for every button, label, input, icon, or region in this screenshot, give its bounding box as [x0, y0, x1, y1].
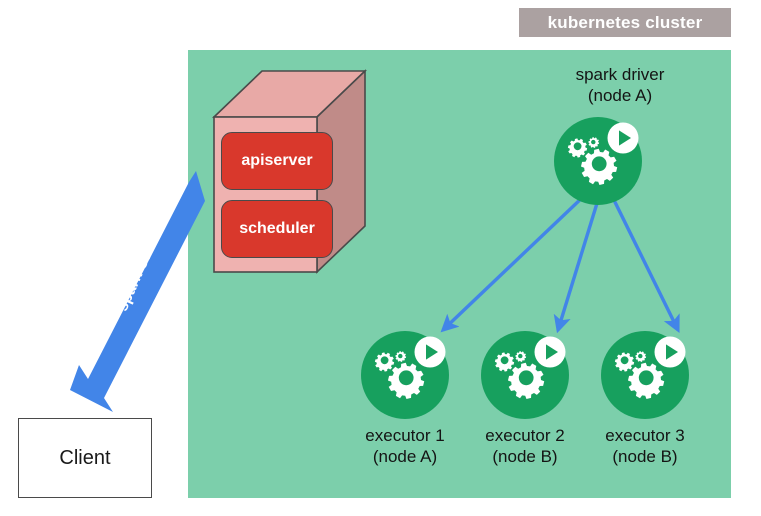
executor-2-node [481, 331, 569, 419]
executor-2-subtitle: (node B) [465, 446, 585, 467]
executor-3-subtitle: (node B) [585, 446, 705, 467]
executor-1-node [361, 331, 449, 419]
executor-2-title: executor 2 [465, 425, 585, 446]
connector-driver-executor-3 [612, 196, 678, 330]
spark-submit-arrow [70, 171, 205, 412]
spark-driver-title: spark driver [540, 64, 700, 85]
spark-driver-node [554, 117, 642, 205]
executor-2-caption: executor 2 (node B) [465, 425, 585, 467]
executor-1-title: executor 1 [345, 425, 465, 446]
executor-3-node [601, 331, 689, 419]
spark-driver-caption: spark driver (node A) [540, 64, 700, 106]
executor-1-caption: executor 1 (node A) [345, 425, 465, 467]
driver-executor-connectors [443, 196, 678, 330]
spark-driver-subtitle: (node A) [540, 85, 700, 106]
scheduler-component: scheduler [221, 200, 333, 258]
apiserver-label: apiserver [241, 152, 312, 170]
connector-driver-executor-2 [558, 200, 598, 330]
executor-1-subtitle: (node A) [345, 446, 465, 467]
executor-3-title: executor 3 [585, 425, 705, 446]
scheduler-label: scheduler [239, 220, 315, 238]
executor-3-caption: executor 3 (node B) [585, 425, 705, 467]
apiserver-component: apiserver [221, 132, 333, 190]
diagram-canvas: kubernetes cluster Client [0, 0, 761, 516]
